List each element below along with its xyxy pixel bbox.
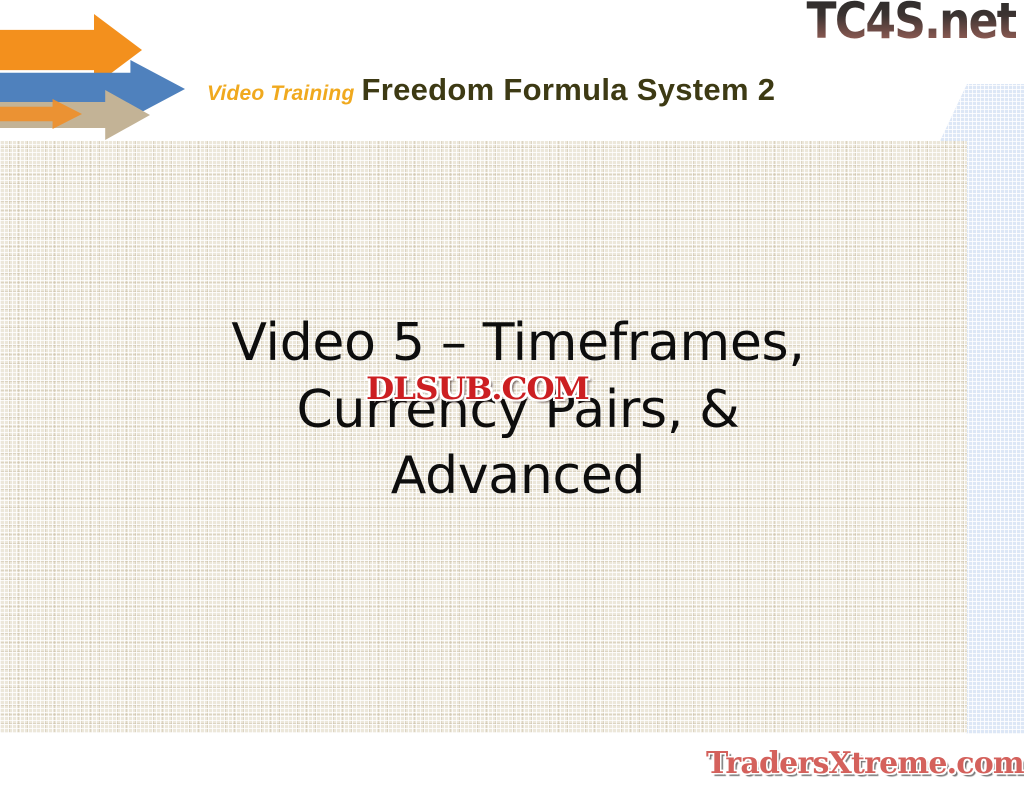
dlsub-watermark: DLSUB.COM [366, 371, 589, 407]
brand-logo-tc4s: TC4S.net [807, 0, 1016, 46]
arrows-graphic [0, 14, 210, 132]
footer-logo-tradersxtreme: TradersXtreme.com [706, 746, 1024, 781]
slide-header: Video TrainingFreedom Formula System 2 T… [0, 0, 1024, 141]
page-title-line-1: Video 5 – Timeframes, [138, 310, 898, 377]
page-title: Video 5 – Timeframes, Currency Pairs, & … [138, 310, 898, 510]
slide-canvas: Video TrainingFreedom Formula System 2 T… [0, 0, 1024, 791]
header-title-group: Video TrainingFreedom Formula System 2 [207, 74, 775, 105]
header-title: Freedom Formula System 2 [361, 72, 775, 107]
page-title-line-3: Advanced [138, 443, 898, 510]
header-eyebrow: Video Training [207, 82, 354, 105]
